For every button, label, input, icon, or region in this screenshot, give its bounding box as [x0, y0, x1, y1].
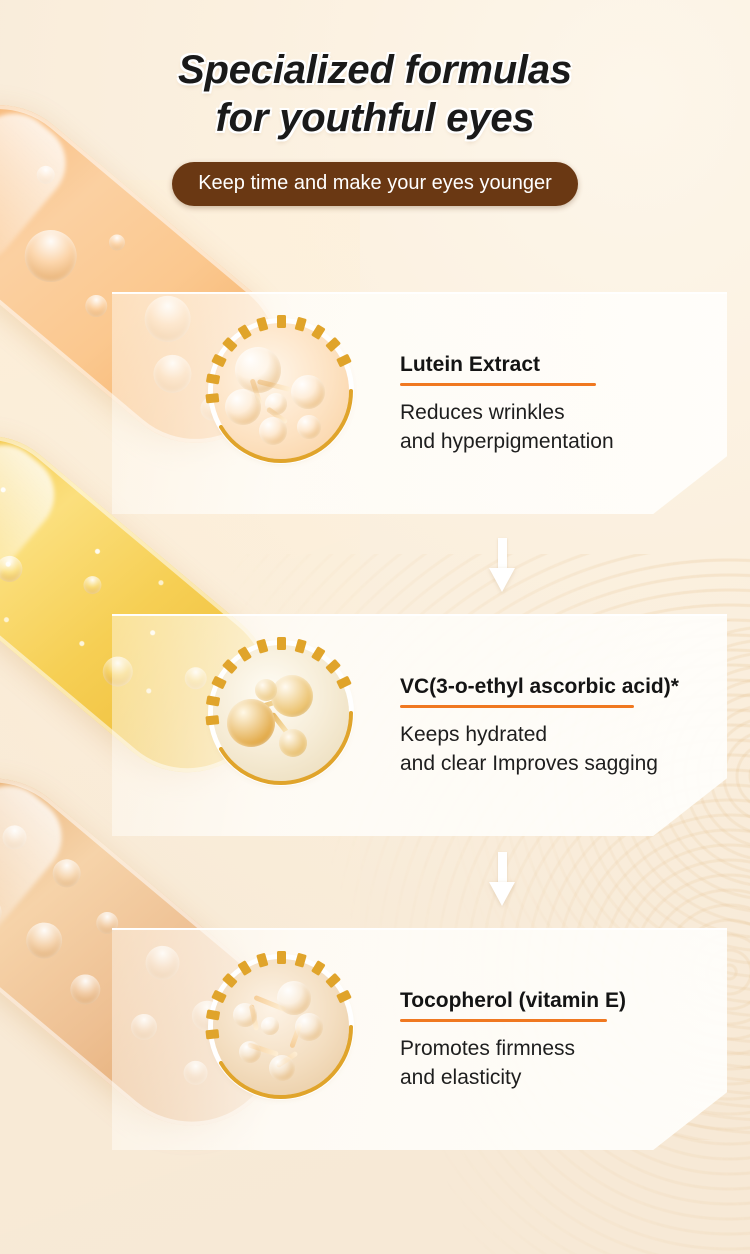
- ingredient-title: VC(3-o-ethyl ascorbic acid)*: [400, 674, 720, 700]
- ingredient-row-vitamin-c: VC(3-o-ethyl ascorbic acid)* Keeps hydra…: [112, 614, 727, 836]
- subtitle-pill: Keep time and make your eyes younger: [172, 162, 578, 206]
- ingredient-underline: [400, 705, 634, 708]
- ingredient-text: Lutein Extract Reduces wrinkles and hype…: [400, 352, 720, 456]
- ingredient-description: Keeps hydrated and clear Improves saggin…: [400, 720, 720, 778]
- ingredient-description: Promotes firmness and elasticity: [400, 1034, 720, 1092]
- ingredient-text: Tocopherol (vitamin E) Promotes firmness…: [400, 988, 720, 1092]
- ingredient-title: Lutein Extract: [400, 352, 720, 378]
- molecule-ring-icon: [205, 951, 357, 1103]
- headline-line-1: Specialized formulas: [178, 48, 572, 92]
- promo-banner: Specialized formulas for youthful eyes K…: [0, 0, 750, 1254]
- badge-dashed-arc: [205, 637, 357, 789]
- ingredient-text: VC(3-o-ethyl ascorbic acid)* Keeps hydra…: [400, 674, 720, 778]
- arrow-head: [489, 882, 515, 906]
- molecule-bubbles-icon: [205, 637, 357, 789]
- ingredient-row-tocopherol: Tocopherol (vitamin E) Promotes firmness…: [112, 928, 727, 1150]
- badge-dashed-arc: [205, 951, 357, 1103]
- headline-line-2: for youthful eyes: [0, 94, 750, 142]
- banner-header: Specialized formulas for youthful eyes K…: [0, 0, 750, 206]
- ingredient-description: Reduces wrinkles and hyperpigmentation: [400, 398, 720, 456]
- arrow-head: [489, 568, 515, 592]
- page-title: Specialized formulas for youthful eyes: [0, 0, 750, 142]
- ingredient-row-lutein: Lutein Extract Reduces wrinkles and hype…: [112, 292, 727, 514]
- down-arrow-icon: [489, 538, 515, 594]
- down-arrow-icon: [489, 852, 515, 908]
- ingredient-title: Tocopherol (vitamin E): [400, 988, 720, 1014]
- arrow-stem: [498, 538, 507, 572]
- badge-dashed-arc: [205, 315, 357, 467]
- ingredient-underline: [400, 1019, 607, 1022]
- arrow-stem: [498, 852, 507, 886]
- molecule-bubbles-icon: [205, 315, 357, 467]
- ingredient-underline: [400, 383, 596, 386]
